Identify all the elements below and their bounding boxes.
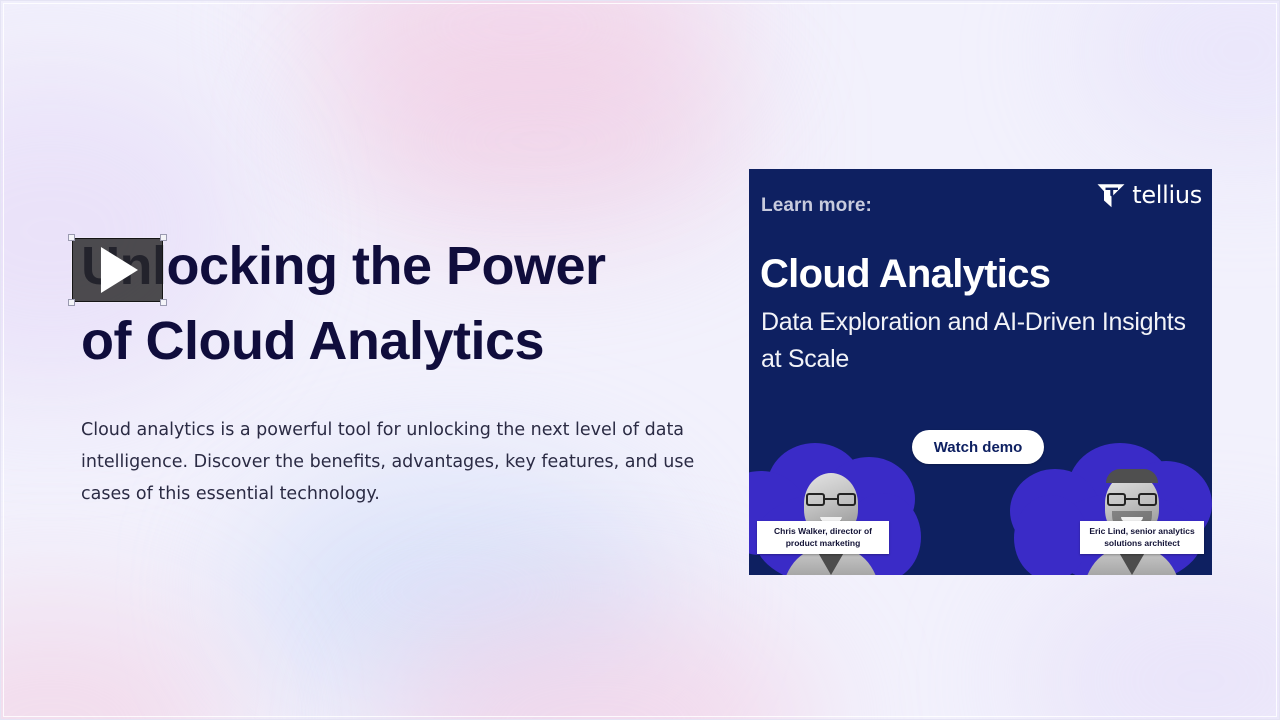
text-column: Unlocking the Power of Cloud Analytics C…: [81, 229, 721, 510]
brand-logo: tellius: [1096, 181, 1202, 209]
glasses-icon: [1106, 493, 1158, 507]
background-blob: [1021, 561, 1280, 720]
speaker-caption: Chris Walker, director of product market…: [757, 521, 889, 554]
body-paragraph: Cloud analytics is a powerful tool for u…: [81, 414, 721, 510]
play-button-backdrop: [72, 238, 163, 302]
avatar: [1086, 463, 1178, 575]
speaker-caption: Eric Lind, senior analytics solutions ar…: [1080, 521, 1204, 554]
card-subtitle: Data Exploration and AI-Driven Insights …: [761, 304, 1191, 377]
page-title: Unlocking the Power of Cloud Analytics: [81, 229, 721, 378]
brand-logo-text: tellius: [1132, 181, 1202, 209]
resize-handle-bottom-left[interactable]: [68, 299, 75, 306]
card-title: Cloud Analytics: [760, 252, 1050, 297]
resize-handle-bottom-right[interactable]: [160, 299, 167, 306]
avatar: [785, 463, 877, 575]
glasses-icon: [805, 493, 857, 507]
slide-canvas: Unlocking the Power of Cloud Analytics C…: [0, 0, 1280, 720]
video-play-button[interactable]: [68, 234, 167, 306]
card-eyebrow: Learn more:: [761, 195, 872, 217]
speaker-block: Eric Lind, senior analytics solutions ar…: [1040, 435, 1212, 575]
tellius-logo-icon: [1096, 182, 1126, 209]
speaker-block: Chris Walker, director of product market…: [749, 435, 921, 575]
promo-card[interactable]: tellius Learn more: Cloud Analytics Data…: [749, 169, 1212, 575]
background-blob: [301, 0, 731, 141]
resize-handle-top-left[interactable]: [68, 234, 75, 241]
play-icon: [100, 247, 137, 293]
background-blob: [381, 601, 811, 720]
background-blob: [0, 601, 241, 720]
watch-demo-button[interactable]: Watch demo: [912, 430, 1044, 464]
resize-handle-top-right[interactable]: [160, 234, 167, 241]
background-blob: [331, 41, 751, 241]
background-blob: [1081, 0, 1280, 161]
